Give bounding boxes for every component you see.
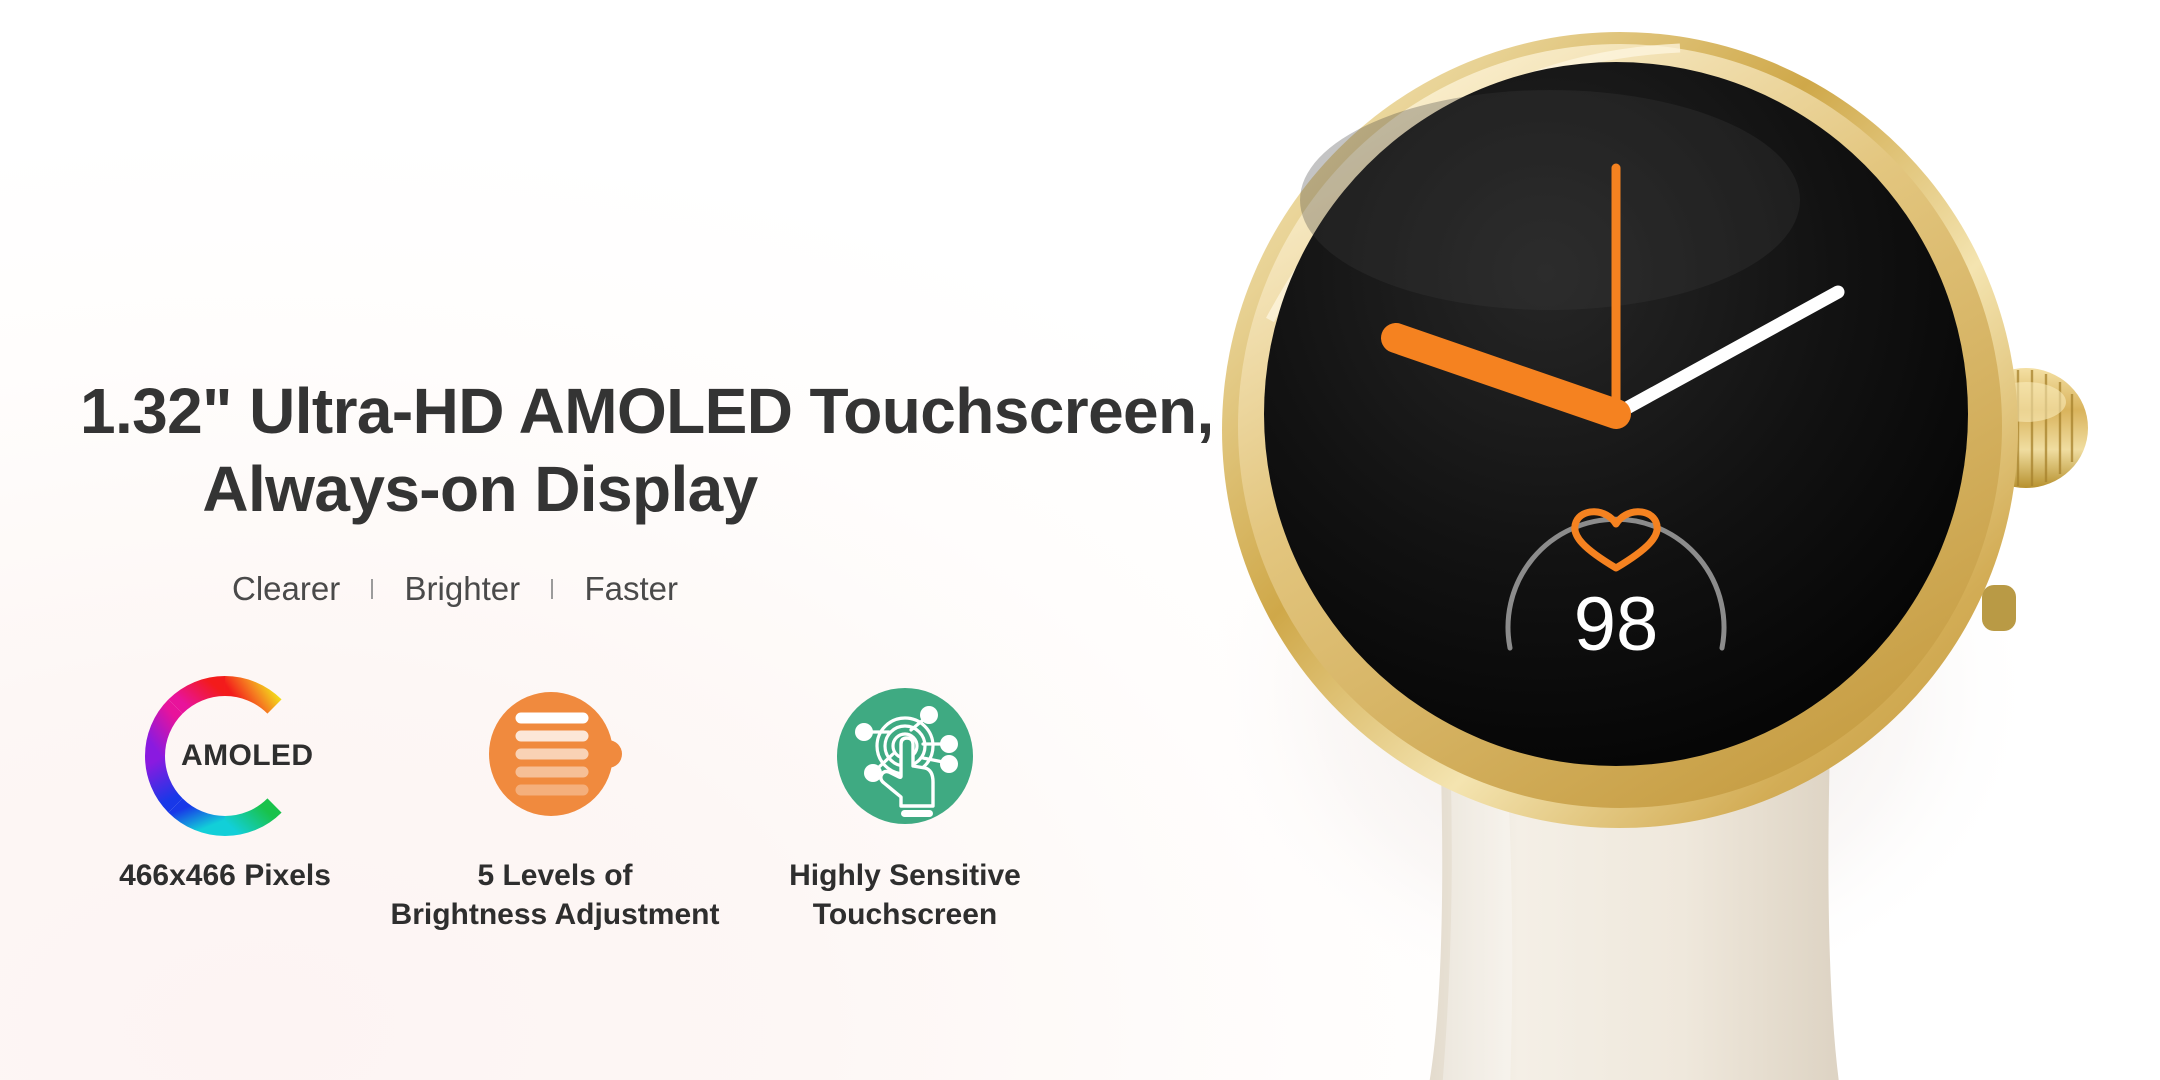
copy-column: 1.32" Ultra-HD AMOLED Touchscreen, Alway…: [0, 0, 1180, 1080]
side-button: [1982, 585, 2016, 631]
brightness-levels-svg: [475, 676, 635, 836]
feature-touch-icon-wrap: [740, 672, 1070, 840]
feature-brightness-caption: 5 Levels of Brightness Adjustment: [380, 856, 730, 934]
amoled-ring-label: AMOLED: [181, 739, 313, 773]
feature-brightness: 5 Levels of Brightness Adjustment: [380, 672, 730, 934]
subtitle-benefits: Clearer Brighter Faster: [80, 570, 1080, 608]
feature-amoled: AMOLED 466x466 Pixels: [60, 672, 390, 895]
benefit-brighter: Brighter: [405, 570, 521, 608]
benefit-divider-1: [371, 579, 373, 599]
smartwatch-product-image: 98: [1150, 0, 2160, 1080]
touchscreen-hand-svg: [831, 682, 979, 830]
headline-line-2: Always-on Display: [80, 450, 1130, 528]
feature-touch: Highly Sensitive Touchscreen: [740, 672, 1070, 934]
feature-list: AMOLED 466x466 Pixels: [60, 672, 1120, 1002]
smartwatch-svg: 98: [1150, 0, 2160, 1080]
product-feature-banner: 1.32" Ultra-HD AMOLED Touchscreen, Alway…: [0, 0, 2160, 1080]
heart-rate-value: 98: [1574, 582, 1659, 667]
amoled-ring-icon: AMOLED: [139, 670, 311, 842]
feature-amoled-icon-wrap: AMOLED: [60, 672, 390, 840]
brightness-levels-icon: [475, 676, 635, 836]
benefit-divider-2: [551, 579, 553, 599]
page-title: 1.32" Ultra-HD AMOLED Touchscreen, Alway…: [80, 372, 1130, 528]
benefit-faster: Faster: [584, 570, 678, 608]
headline-line-1: 1.32" Ultra-HD AMOLED Touchscreen,: [80, 372, 1130, 450]
benefit-clearer: Clearer: [232, 570, 340, 608]
touchscreen-hand-icon: [831, 682, 979, 830]
screen-gloss: [1300, 90, 1800, 310]
feature-amoled-caption: 466x466 Pixels: [60, 856, 390, 895]
feature-touch-caption: Highly Sensitive Touchscreen: [740, 856, 1070, 934]
feature-brightness-icon-wrap: [380, 672, 730, 840]
